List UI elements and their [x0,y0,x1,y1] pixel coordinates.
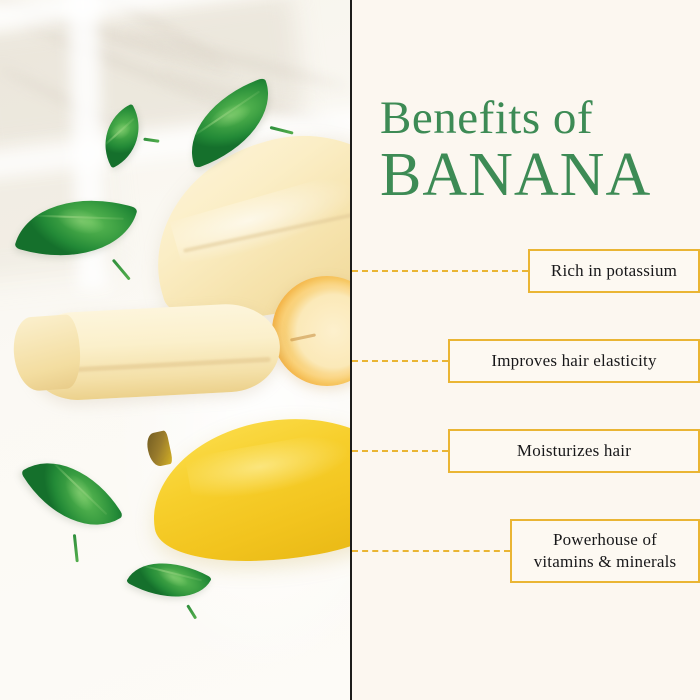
benefit-row: Improves hair elasticity [352,339,700,383]
benefit-row: Rich in potassium [352,249,700,293]
title-line-1: Benefits of [380,92,690,144]
leader-line [352,550,510,552]
benefit-label: Moisturizes hair [507,440,641,462]
product-photo [0,0,350,700]
benefit-row: Moisturizes hair [352,429,700,473]
banana-benefits-poster: Benefits of BANANA Rich in potassium Imp… [0,0,700,700]
benefit-label: Improves hair elasticity [481,350,666,372]
benefit-box: Rich in potassium [528,249,700,293]
leader-line [352,360,448,362]
benefit-box: Powerhouse of vitamins & minerals [510,519,700,583]
benefit-label: Rich in potassium [541,260,687,282]
leader-line [352,270,528,272]
leader-line [352,450,448,452]
banana-chunk-left [11,314,82,392]
citrus-seam [290,333,316,341]
benefit-label: Powerhouse of vitamins & minerals [524,529,687,573]
benefit-box: Moisturizes hair [448,429,700,473]
content-panel: Benefits of BANANA Rich in potassium Imp… [352,0,700,700]
benefit-box: Improves hair elasticity [448,339,700,383]
benefit-row: Powerhouse of vitamins & minerals [352,519,700,583]
title-line-2: BANANA [380,144,690,206]
page-title: Benefits of BANANA [380,92,690,206]
